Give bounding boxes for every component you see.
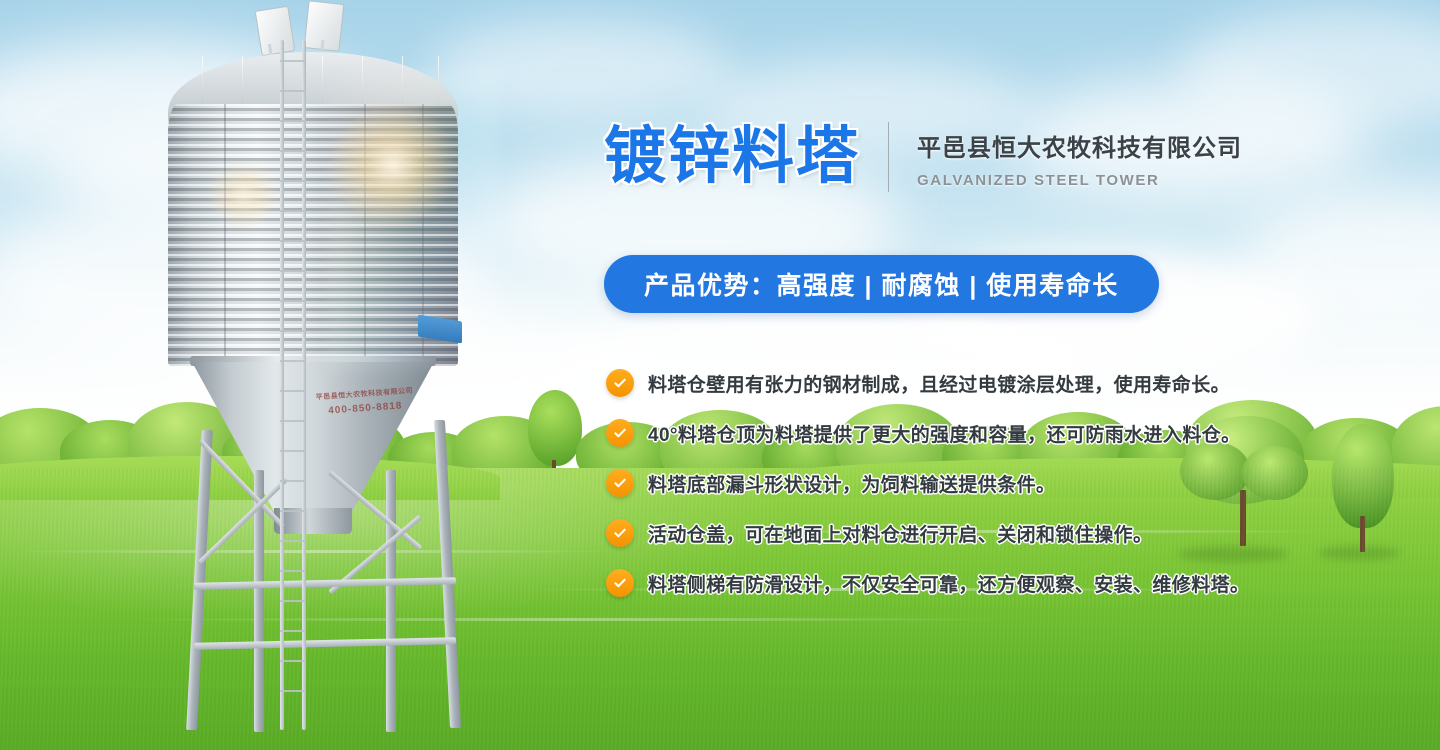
check-icon <box>606 419 634 447</box>
silo-side-ladder <box>280 40 306 730</box>
silo-barrel <box>168 104 458 366</box>
check-icon <box>606 469 634 497</box>
feature-text: 40°料塔仓顶为料塔提供了更大的强度和容量，还可防雨水进入料仓。 <box>648 420 1241 447</box>
title-divider <box>888 122 889 192</box>
hero-banner: 平邑县恒大农牧科技有限公司 400-850-8818 <box>0 0 1440 750</box>
headline-group: 镀锌料塔 平邑县恒大农牧科技有限公司 GALVANIZED STEEL TOWE… <box>604 122 1242 192</box>
feature-text: 料塔侧梯有防滑设计，不仅安全可靠，还方便观察、安装、维修料塔。 <box>648 570 1249 597</box>
advantage-banner: 产品优势：高强度 | 耐腐蚀 | 使用寿命长 <box>604 255 1159 313</box>
company-name-en: GALVANIZED STEEL TOWER <box>917 172 1242 189</box>
feature-item: 40°料塔仓顶为料塔提供了更大的强度和容量，还可防雨水进入料仓。 <box>606 408 1249 458</box>
check-icon <box>606 369 634 397</box>
feature-item: 料塔仓壁用有张力的钢材制成，且经过电镀涂层处理，使用寿命长。 <box>606 358 1249 408</box>
silo-cone-hopper <box>192 362 434 512</box>
feature-item: 活动仓盖，可在地面上对料仓进行开启、关闭和锁住操作。 <box>606 508 1249 558</box>
company-name-cn: 平邑县恒大农牧科技有限公司 <box>917 128 1242 163</box>
check-icon <box>606 519 634 547</box>
feature-list: 料塔仓壁用有张力的钢材制成，且经过电镀涂层处理，使用寿命长。 40°料塔仓顶为料… <box>606 358 1249 608</box>
feature-item: 料塔侧梯有防滑设计，不仅安全可靠，还方便观察、安装、维修料塔。 <box>606 558 1249 608</box>
check-icon <box>606 569 634 597</box>
advantage-banner-text: 产品优势：高强度 | 耐腐蚀 | 使用寿命长 <box>644 266 1119 302</box>
feature-text: 料塔仓壁用有张力的钢材制成，且经过电镀涂层处理，使用寿命长。 <box>648 370 1230 397</box>
feature-item: 料塔底部漏斗形状设计，为饲料输送提供条件。 <box>606 458 1249 508</box>
tree <box>1318 424 1410 552</box>
product-image-silo: 平邑县恒大农牧科技有限公司 400-850-8818 <box>150 0 510 750</box>
feature-text: 活动仓盖，可在地面上对料仓进行开启、关闭和锁住操作。 <box>648 520 1152 547</box>
page-title: 镀锌料塔 <box>604 126 860 188</box>
feature-text: 料塔底部漏斗形状设计，为饲料输送提供条件。 <box>648 470 1055 497</box>
